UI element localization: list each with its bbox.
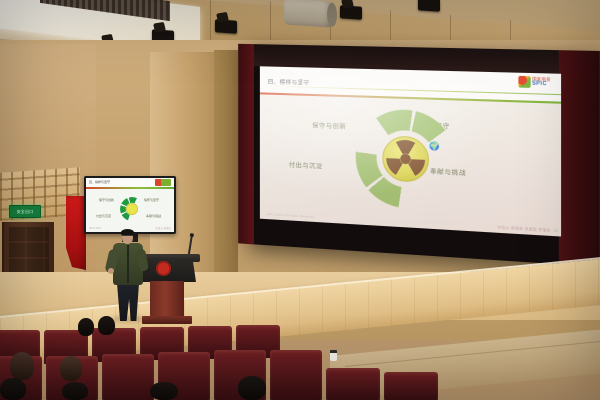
- exit-sign: 安全出口: [9, 205, 41, 218]
- podium-emblem: [156, 261, 171, 276]
- slide-footer-right: 守初心 担使命 找差距 抓落实: [497, 224, 551, 232]
- slide-label-3: 付出与沉淀: [289, 160, 323, 171]
- speaker-jacket-zip: [127, 245, 129, 283]
- spotlight-icon: [418, 0, 440, 12]
- monitor-footer-right: 守初心 担使命: [155, 226, 171, 230]
- monitor-label-3: 付出与沉淀: [96, 214, 111, 218]
- curtain-left: [238, 44, 254, 245]
- audience-head: [98, 316, 115, 335]
- seat[interactable]: [326, 368, 380, 400]
- monitor-label-2: 情怀与坚守: [144, 198, 159, 202]
- spotlight-icon: [340, 5, 362, 20]
- globe-icon: 🌍: [429, 141, 440, 151]
- monitor-footer-left: SPIC 2021: [89, 227, 101, 230]
- glasses-icon: [122, 235, 133, 239]
- slide-page-number: 18: [553, 229, 557, 234]
- spic-logo-en: SPIC: [532, 82, 551, 88]
- slide-body: 保守与创新 情怀与坚守 付出与沉淀 奉献与挑战 ⚯ ⚛ ≡: [260, 96, 561, 221]
- monitor-slide-title: 四、榜样与坚守: [89, 180, 110, 184]
- speaker-shadow: [112, 316, 146, 322]
- audience-head: [10, 352, 34, 380]
- slide-surface: 国家电投 SPIC 四、榜样与坚守 保守与创新 情怀与坚守 付出与沉淀 奉献与挑…: [260, 66, 561, 236]
- monitor-label-1: 保守与创新: [99, 198, 114, 202]
- monitor-logo-icon: [155, 179, 171, 186]
- slide-footer-left: SPIC 2021 All Rights Reserved: [267, 212, 315, 219]
- slide-title: 四、榜样与坚守: [268, 78, 310, 87]
- curtain-right: [559, 50, 600, 267]
- monitor-trefoil-icon: [126, 203, 138, 215]
- seat[interactable]: [270, 350, 322, 400]
- exit-sign-label: 安全出口: [17, 209, 34, 215]
- confidence-monitor[interactable]: 四、榜样与坚守 保守与创新 情怀与坚守 付出与沉淀 奉献与挑战 SPIC 202…: [84, 176, 176, 234]
- seat[interactable]: [102, 354, 154, 400]
- audience-head: [78, 318, 94, 336]
- podium-base: [142, 316, 192, 324]
- monitor-accent-rule: [86, 187, 174, 189]
- monitor-label-4: 奉献与挑战: [146, 214, 161, 218]
- audience-head: [60, 356, 82, 381]
- spic-logo: 国家电投 SPIC: [518, 76, 551, 89]
- audience-head: [62, 382, 88, 400]
- seat[interactable]: [384, 372, 438, 400]
- audience-head: [238, 376, 266, 400]
- monitor-screen: 四、榜样与坚守 保守与创新 情怀与坚守 付出与沉淀 奉献与挑战 SPIC 202…: [86, 178, 174, 232]
- audience-head: [150, 382, 178, 400]
- donut-diagram: ⚯ ⚛ ≡ 🌍: [355, 108, 457, 212]
- auditorium-scene: 安全出口 四、榜样与坚守 保守与创新 情怀与坚守 付出与沉淀 奉献与挑战 SPI…: [0, 0, 600, 400]
- speaker-hand: [108, 268, 114, 274]
- audience-head: [0, 378, 26, 400]
- spic-logo-icon: [518, 76, 530, 88]
- coffee-cup[interactable]: [330, 350, 337, 361]
- projection-screen: 国家电投 SPIC 四、榜样与坚守 保守与创新 情怀与坚守 付出与沉淀 奉献与挑…: [248, 44, 600, 267]
- ceiling-speaker: [284, 0, 332, 28]
- slide-label-1: 保守与创新: [312, 120, 346, 130]
- podium-column: [150, 281, 184, 319]
- spotlight-icon: [215, 19, 237, 34]
